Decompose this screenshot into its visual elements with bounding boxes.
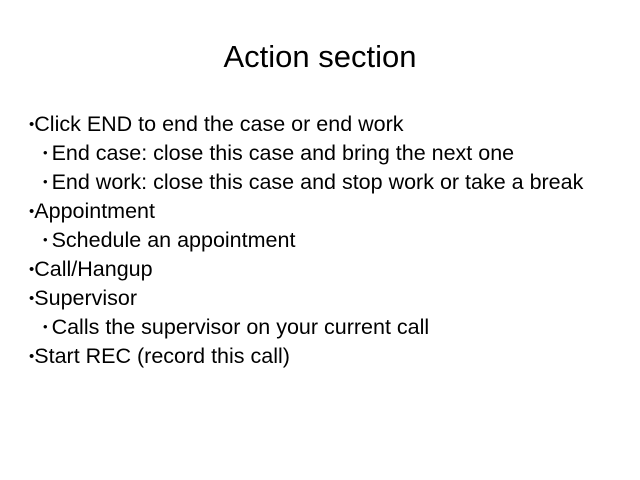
bullet-icon: • xyxy=(29,348,34,365)
list-item: •Schedule an appointment xyxy=(29,226,614,255)
list-item: •End case: close this case and bring the… xyxy=(29,139,614,168)
page-title: Action section xyxy=(0,38,640,76)
bullet-icon: • xyxy=(29,203,34,220)
list-item: •Click END to end the case or end work xyxy=(29,110,614,139)
bullet-icon: • xyxy=(43,174,48,189)
slide: Action section •Click END to end the cas… xyxy=(0,0,640,480)
list-item-label: Click END to end the case or end work xyxy=(34,112,403,136)
list-item: •Call/Hangup xyxy=(29,255,614,284)
bullet-icon: • xyxy=(43,145,48,160)
bullet-icon: • xyxy=(43,319,48,334)
list-item: •Supervisor xyxy=(29,284,614,313)
list-item-label: Start REC (record this call) xyxy=(34,344,290,368)
list-item-label: Supervisor xyxy=(34,286,137,310)
list-item: •Calls the supervisor on your current ca… xyxy=(29,313,614,342)
bullet-icon: • xyxy=(29,116,34,133)
bullet-list: •Click END to end the case or end work •… xyxy=(29,110,614,371)
list-item-label: Call/Hangup xyxy=(34,257,152,281)
list-item-label: Appointment xyxy=(34,199,155,223)
list-item-label: End work: close this case and stop work … xyxy=(52,170,584,194)
list-item-label: Schedule an appointment xyxy=(52,228,296,252)
bullet-icon: • xyxy=(29,261,34,278)
list-item: •Start REC (record this call) xyxy=(29,342,614,371)
list-item-label: Calls the supervisor on your current cal… xyxy=(52,315,430,339)
bullet-icon: • xyxy=(29,290,34,307)
list-item: •Appointment xyxy=(29,197,614,226)
list-item: •End work: close this case and stop work… xyxy=(29,168,614,197)
bullet-icon: • xyxy=(43,232,48,247)
list-item-label: End case: close this case and bring the … xyxy=(52,141,515,165)
